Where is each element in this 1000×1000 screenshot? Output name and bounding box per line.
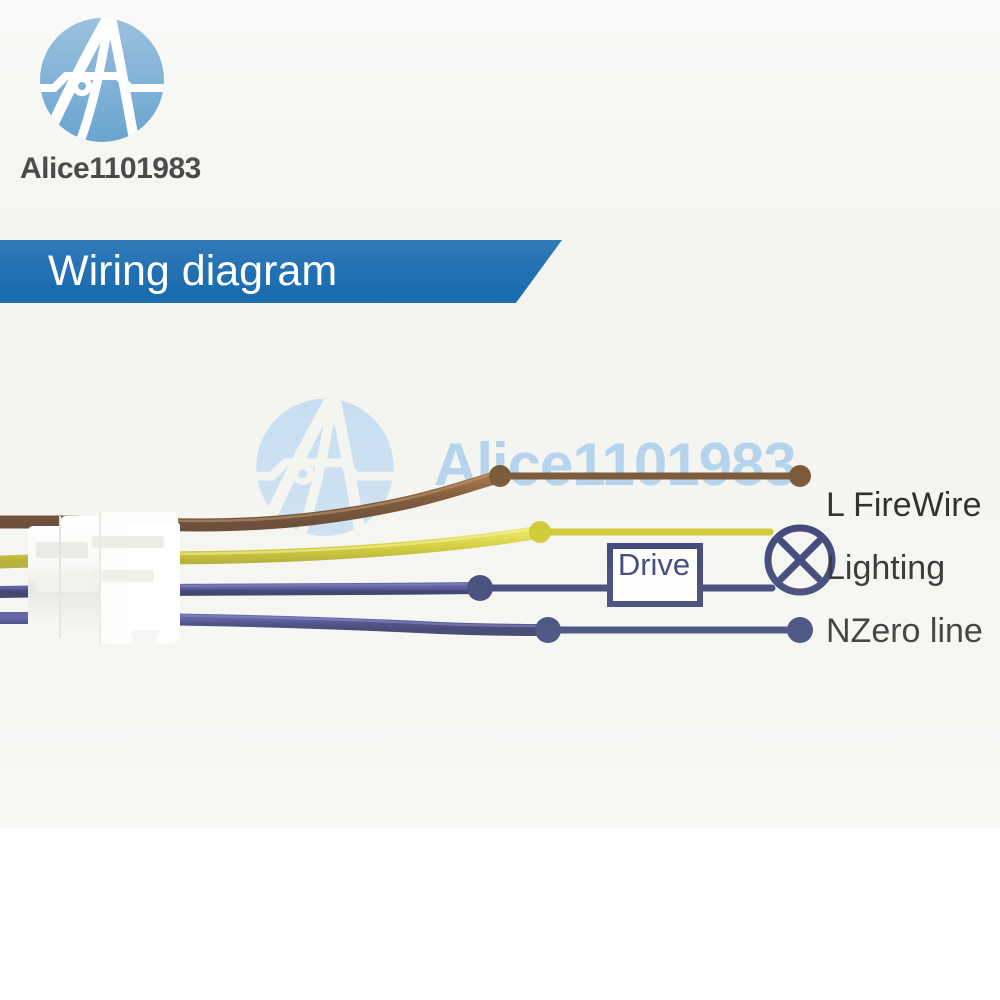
wire-label-live: L FireWire (826, 488, 982, 522)
schematic-live-line (489, 465, 811, 487)
alice-globe-a-logo-icon (32, 12, 172, 152)
wire-label-lighting: Lighting (826, 551, 945, 585)
wire-label-neutral: NZero line (826, 614, 983, 648)
wiring-schematic (0, 330, 1000, 750)
brand-logo-block: Alice1101983 (14, 8, 244, 188)
terminal-neutral (787, 617, 813, 643)
page-bottom-margin (0, 828, 1000, 1000)
node-neutral-left (535, 617, 561, 643)
terminal-live (789, 465, 811, 487)
schematic-lighting-line (529, 521, 770, 543)
node-lighting-left (529, 521, 551, 543)
drive-box-label: Drive (612, 546, 696, 584)
brand-name: Alice1101983 (20, 152, 240, 186)
page-title: Wiring diagram (48, 240, 337, 303)
diagram-sheet: Alice1101983 Wiring diagram (0, 0, 1000, 828)
node-live-left (489, 465, 511, 487)
section-title-banner: Wiring diagram (0, 240, 562, 303)
node-drive-input (467, 575, 493, 601)
lamp-symbol (768, 528, 832, 592)
connector-photo (28, 512, 180, 662)
